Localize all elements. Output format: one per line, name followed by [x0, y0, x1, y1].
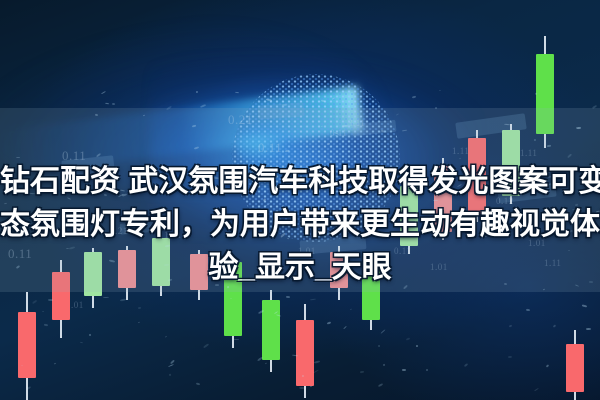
sparkle — [138, 307, 141, 309]
sparkle — [168, 374, 170, 376]
candle-body — [330, 252, 348, 288]
candle-body — [296, 320, 314, 386]
image-canvas: 0.110.110.210.111.010.211.011.010.113.11… — [0, 0, 600, 400]
candlestick — [400, 180, 418, 254]
candle-body — [118, 250, 136, 288]
sparkle — [286, 296, 290, 298]
candle-body — [224, 262, 242, 336]
candlestick — [566, 330, 584, 400]
candlestick — [52, 260, 70, 338]
sparkle — [326, 142, 329, 144]
candle-body — [536, 54, 554, 134]
candlestick — [118, 246, 136, 300]
candlestick — [330, 246, 348, 300]
globe-highlight — [236, 120, 306, 170]
candlestick — [224, 256, 242, 348]
candle-body — [52, 272, 70, 320]
candle-body — [262, 300, 280, 360]
sparkle — [342, 124, 348, 126]
candlestick — [502, 124, 520, 204]
candle-body — [400, 186, 418, 246]
sparkle — [576, 127, 581, 129]
sparkle — [402, 369, 406, 371]
sparkle — [586, 328, 591, 330]
candlestick — [190, 250, 208, 300]
candle-body — [84, 252, 102, 296]
sparkle — [301, 374, 303, 376]
sparkle — [534, 139, 536, 141]
candlestick — [18, 292, 36, 400]
candle-body — [190, 254, 208, 290]
candle-body — [18, 312, 36, 378]
candle-body — [362, 256, 380, 320]
candlestick — [362, 252, 380, 330]
sparkle — [327, 159, 329, 161]
sparkle — [526, 308, 530, 311]
sparkle — [415, 344, 417, 346]
sparkle — [426, 368, 428, 370]
candle-body — [502, 130, 520, 196]
sparkle — [568, 250, 570, 252]
sparkle — [508, 356, 512, 358]
candlestick — [536, 36, 554, 148]
sparkle — [44, 323, 48, 325]
candle-body — [566, 344, 584, 392]
sparkle — [112, 103, 115, 105]
candlestick — [296, 304, 314, 398]
candlestick — [84, 248, 102, 308]
candle-body — [468, 138, 486, 214]
sparkle — [289, 277, 293, 280]
sparkle — [547, 144, 551, 146]
candlestick — [262, 290, 280, 372]
sparkle — [589, 281, 593, 283]
candlestick — [468, 130, 486, 222]
sparkle — [48, 299, 53, 301]
